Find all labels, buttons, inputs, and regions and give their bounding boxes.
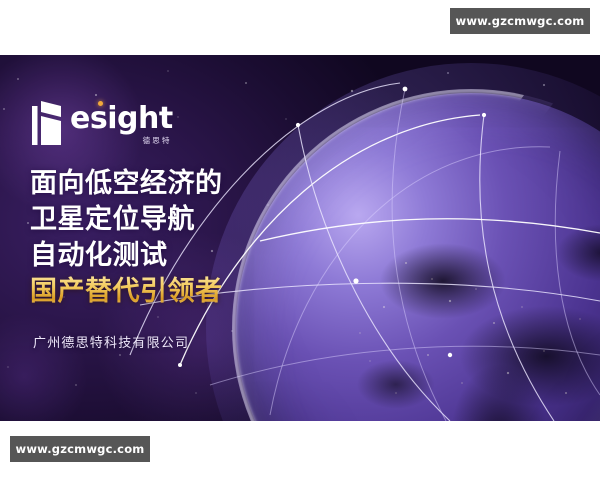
logo-accent-dot-icon bbox=[98, 101, 103, 106]
logo-wordmark-group: esight 德思特 bbox=[70, 104, 173, 146]
company-name: 广州德思特科技有限公司 bbox=[33, 332, 189, 351]
logo-wordmark: esight bbox=[70, 104, 173, 134]
promotional-banner: esight 德思特 面向低空经济的 卫星定位导航 自动化测试 国产替代引领者 … bbox=[0, 55, 600, 421]
headline-line-2: 卫星定位导航 bbox=[30, 201, 280, 237]
headline-block: 面向低空经济的 卫星定位导航 自动化测试 国产替代引领者 bbox=[30, 165, 280, 309]
watermark-bottom: www.gzcmwgc.com bbox=[10, 436, 150, 462]
logo-mark-svg bbox=[32, 100, 66, 146]
page-canvas: esight 德思特 面向低空经济的 卫星定位导航 自动化测试 国产替代引领者 … bbox=[0, 0, 600, 480]
headline-line-1: 面向低空经济的 bbox=[30, 165, 280, 201]
headline-line-4-highlight: 国产替代引领者 bbox=[30, 273, 280, 309]
brand-logo: esight 德思特 bbox=[32, 100, 173, 146]
esight-d-mark-icon bbox=[32, 100, 66, 146]
logo-chinese-subtitle: 德思特 bbox=[143, 135, 172, 146]
headline-line-3: 自动化测试 bbox=[30, 237, 280, 273]
banner-content: esight 德思特 面向低空经济的 卫星定位导航 自动化测试 国产替代引领者 … bbox=[0, 55, 300, 421]
watermark-top: www.gzcmwgc.com bbox=[450, 8, 590, 34]
